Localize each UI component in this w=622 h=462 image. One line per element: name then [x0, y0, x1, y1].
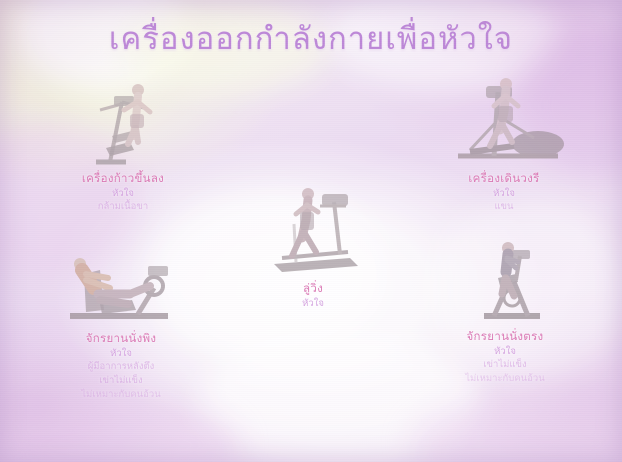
recumbent-bike-icon [8, 248, 234, 330]
stair-stepper-icon [18, 78, 228, 170]
machine-benefit-line: ไม่เหมาะกับคนอ้วน [398, 372, 612, 386]
machine-benefit-line: ผู้มีอาการหลังตึง [8, 360, 234, 374]
machine-benefit-line: หัวใจ [18, 187, 228, 201]
upright-bike-icon [398, 240, 612, 328]
machine-benefit-line: หัวใจ [8, 347, 234, 361]
elliptical-trainer-icon [398, 76, 610, 170]
machine-block-recumbent-bike: จักรยานนั่งพิง หัวใจ ผู้มีอาการหลังตึง เ… [8, 248, 234, 402]
treadmill-icon [222, 172, 404, 280]
machine-benefit-line: แขน [398, 200, 610, 214]
caption-step-machine: เครื่องก้าวขึ้นลง หัวใจ กล้ามเนื้อขา [18, 170, 228, 214]
machine-block-elliptical-machine: เครื่องเดินวงรี หัวใจ แขน [398, 76, 610, 214]
machine-benefit-line: กล้ามเนื้อขา [18, 200, 228, 214]
caption-treadmill: ลู่วิ่ง หัวใจ [222, 280, 404, 310]
machine-name-elliptical-machine: เครื่องเดินวงรี [398, 170, 610, 187]
machine-name-step-machine: เครื่องก้าวขึ้นลง [18, 170, 228, 187]
machine-benefit-line: เข่าไม่แข็ง [8, 374, 234, 388]
machine-benefit-line: หัวใจ [222, 297, 404, 311]
machine-name-upright-bike: จักรยานนั่งตรง [398, 328, 612, 345]
machine-name-treadmill: ลู่วิ่ง [222, 280, 404, 297]
machine-benefit-line: เข่าไม่แข็ง [398, 358, 612, 372]
machine-block-treadmill: ลู่วิ่ง หัวใจ [222, 172, 404, 310]
machine-benefit-line: หัวใจ [398, 187, 610, 201]
machine-name-recumbent-bike: จักรยานนั่งพิง [8, 330, 234, 347]
slide-title: เครื่องออกกำลังกายเพื่อหัวใจ [0, 22, 622, 56]
machine-block-step-machine: เครื่องก้าวขึ้นลง หัวใจ กล้ามเนื้อขา [18, 78, 228, 214]
caption-recumbent-bike: จักรยานนั่งพิง หัวใจ ผู้มีอาการหลังตึง เ… [8, 330, 234, 402]
machine-benefit-line: ไม่เหมาะกับคนอ้วน [8, 388, 234, 402]
caption-elliptical-machine: เครื่องเดินวงรี หัวใจ แขน [398, 170, 610, 214]
slide-photo: เครื่องออกกำลังกายเพื่อหัวใจ [0, 0, 622, 462]
caption-upright-bike: จักรยานนั่งตรง หัวใจ เข่าไม่แข็ง ไม่เหมา… [398, 328, 612, 386]
machine-block-upright-bike: จักรยานนั่งตรง หัวใจ เข่าไม่แข็ง ไม่เหมา… [398, 240, 612, 386]
machine-benefit-line: หัวใจ [398, 345, 612, 359]
